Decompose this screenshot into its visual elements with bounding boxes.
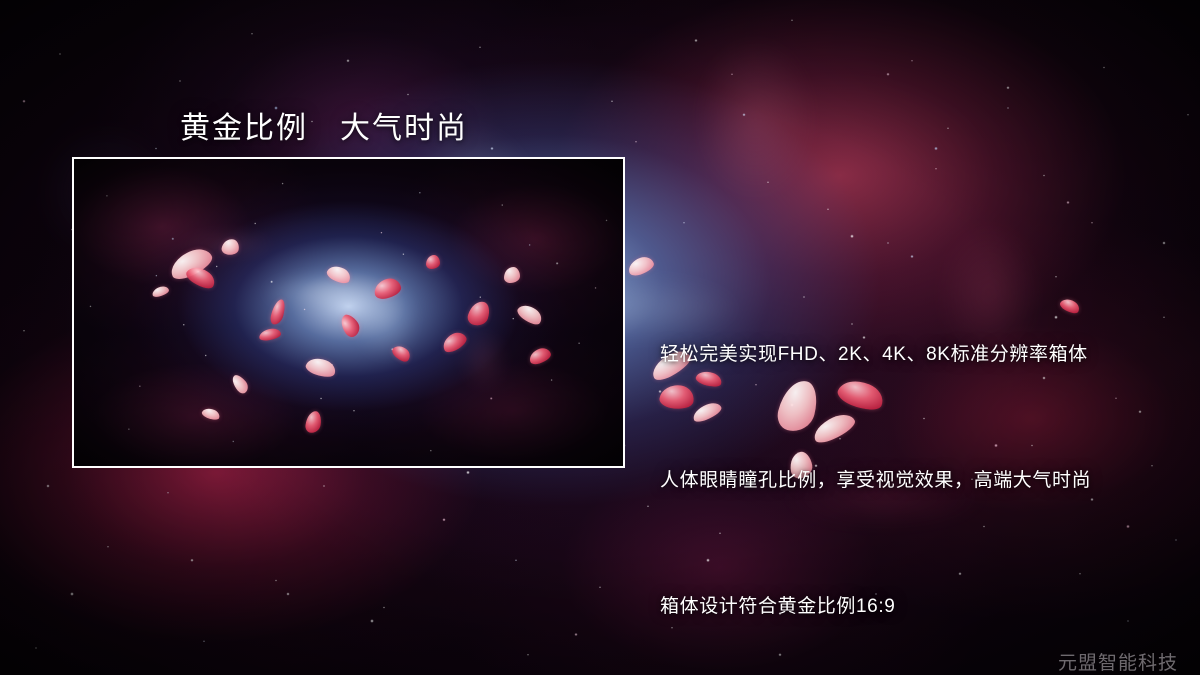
slide-canvas: 黄金比例 大气时尚 轻松完美实现FHD、2K、4K、8K标准分辨率箱体 人体眼睛… (0, 0, 1200, 675)
page-title: 黄金比例 大气时尚 (180, 103, 468, 147)
body-line-1: 轻松完美实现FHD、2K、4K、8K标准分辨率箱体 (660, 334, 1091, 376)
body-line-3: 箱体设计符合黄金比例16:9 (660, 586, 1091, 628)
rose-petal (504, 267, 520, 283)
body-text-block: 轻松完美实现FHD、2K、4K、8K标准分辨率箱体 人体眼睛瞳孔比例，享受视觉效… (660, 250, 1091, 675)
rose-petal (426, 255, 440, 269)
panel-vignette (74, 159, 623, 466)
body-line-2: 人体眼睛瞳孔比例，享受视觉效果，高端大气时尚 (660, 460, 1091, 502)
framed-image-panel (72, 157, 625, 468)
watermark: 元盟智能科技 (1058, 648, 1178, 675)
